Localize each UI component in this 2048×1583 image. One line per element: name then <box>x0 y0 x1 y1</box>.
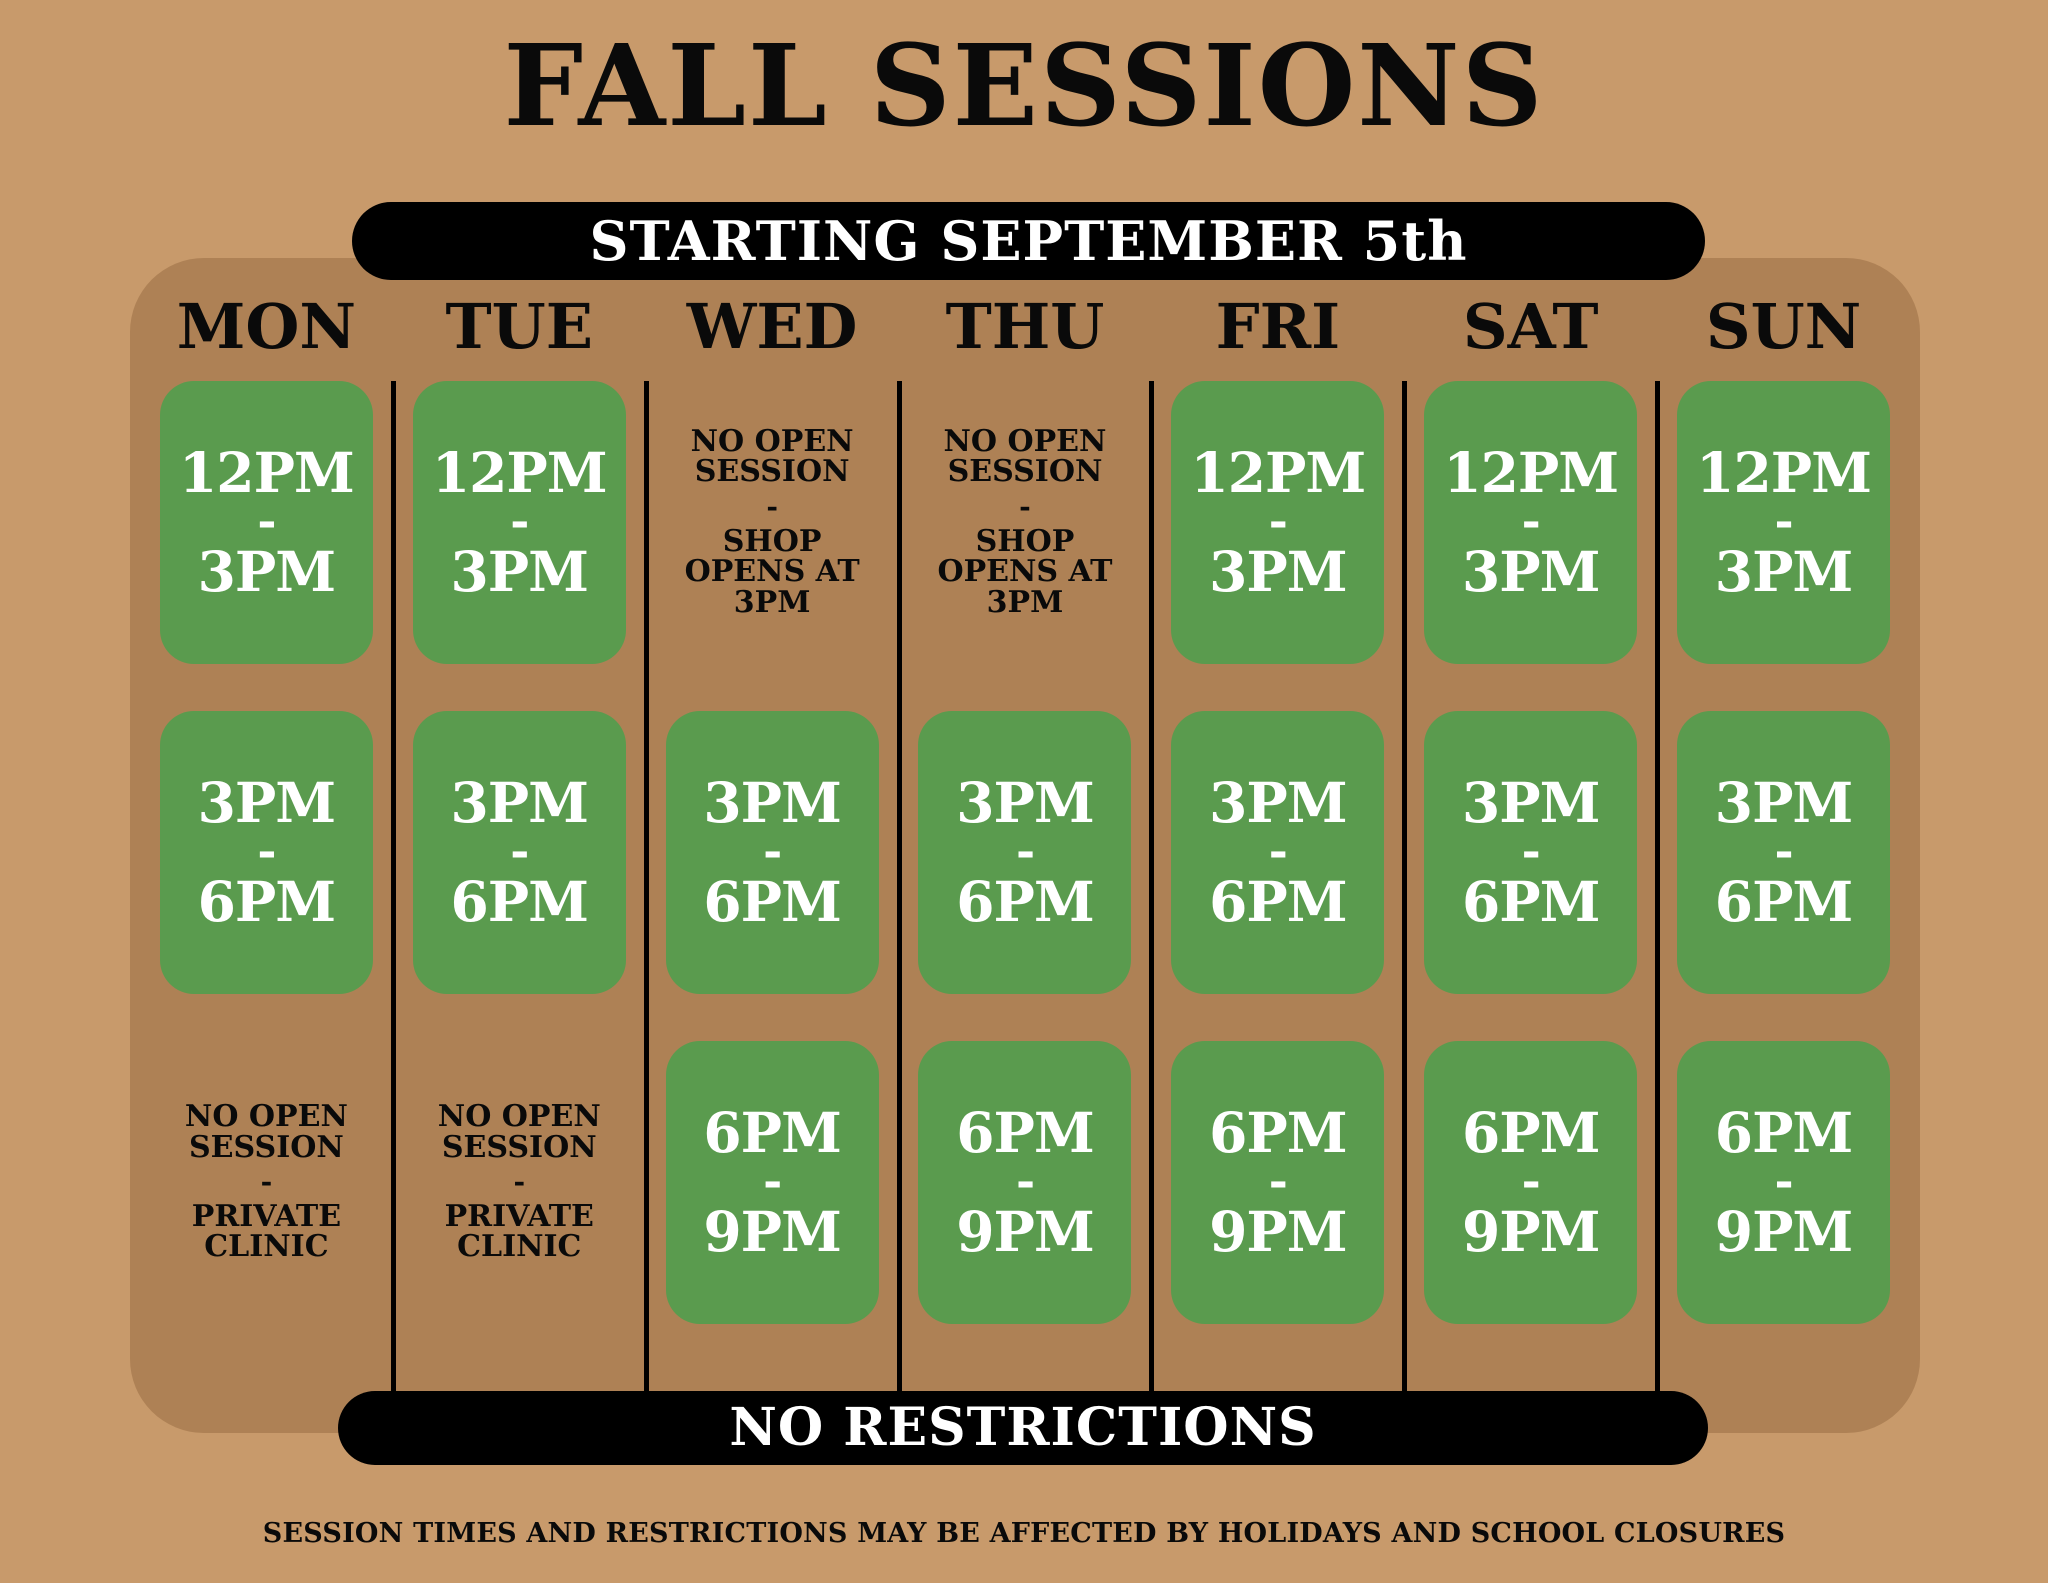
slot-separator: - <box>1522 831 1540 874</box>
session-slot-open[interactable]: 3PM-6PM <box>413 711 626 994</box>
slot-line: SESSION <box>695 457 850 488</box>
session-slot-open[interactable]: 3PM-6PM <box>1424 711 1637 994</box>
slot-line: 3PM <box>956 775 1094 831</box>
day-column-tue: TUE12PM-3PM3PM-6PMNO OPENSESSION-PRIVATE… <box>393 285 646 1405</box>
slot-line: NO OPEN <box>185 1102 348 1133</box>
slot-line: 6PM <box>1209 874 1347 930</box>
day-column-sun: SUN12PM-3PM3PM-6PM6PM-9PM <box>1657 285 1910 1405</box>
slot-line: 3PM <box>987 588 1064 619</box>
slot-line: CLINIC <box>457 1232 581 1263</box>
slot-separator: - <box>261 1163 273 1202</box>
slot-list: 12PM-3PM3PM-6PMNO OPENSESSION-PRIVATECLI… <box>405 381 634 1324</box>
slot-line: CLINIC <box>204 1232 328 1263</box>
day-header-sat: SAT <box>1463 285 1599 369</box>
slot-separator: - <box>1522 501 1540 544</box>
slot-separator: - <box>1522 1161 1540 1204</box>
slot-line: NO OPEN <box>691 427 854 458</box>
slot-line: 3PM <box>1209 775 1347 831</box>
session-slot-open[interactable]: 3PM-6PM <box>160 711 373 994</box>
slot-list: NO OPENSESSION-SHOPOPENS AT3PM3PM-6PM6PM… <box>911 381 1140 1324</box>
session-slot-open[interactable]: 12PM-3PM <box>1171 381 1384 664</box>
slot-separator: - <box>510 831 528 874</box>
slot-line: 6PM <box>956 874 1094 930</box>
slot-line: 6PM <box>1715 1105 1853 1161</box>
schedule-grid: MON12PM-3PM3PM-6PMNO OPENSESSION-PRIVATE… <box>140 285 1910 1405</box>
slot-separator: - <box>766 488 778 527</box>
start-date-banner: STARTING SEPTEMBER 5th <box>352 202 1705 280</box>
session-slot-closed[interactable]: NO OPENSESSION-SHOPOPENS AT3PM <box>666 381 879 664</box>
session-slot-closed[interactable]: NO OPENSESSION-SHOPOPENS AT3PM <box>918 381 1131 664</box>
slot-line: PRIVATE <box>192 1202 341 1233</box>
slot-line: 6PM <box>1462 1105 1600 1161</box>
slot-line: 9PM <box>703 1204 841 1260</box>
slot-list: 12PM-3PM3PM-6PMNO OPENSESSION-PRIVATECLI… <box>152 381 381 1324</box>
slot-line: 3PM <box>1462 544 1600 600</box>
day-column-mon: MON12PM-3PM3PM-6PMNO OPENSESSION-PRIVATE… <box>140 285 393 1405</box>
day-header-fri: FRI <box>1216 285 1341 369</box>
slot-line: SESSION <box>442 1133 597 1164</box>
session-slot-open[interactable]: 6PM-9PM <box>666 1041 879 1324</box>
slot-line: 12PM <box>432 445 607 501</box>
session-slot-open[interactable]: 3PM-6PM <box>1677 711 1890 994</box>
session-slot-open[interactable]: 6PM-9PM <box>1424 1041 1637 1324</box>
slot-line: SHOP <box>723 527 822 558</box>
slot-separator: - <box>1775 831 1793 874</box>
slot-list: 12PM-3PM3PM-6PM6PM-9PM <box>1416 381 1645 1324</box>
slot-separator: - <box>257 831 275 874</box>
session-slot-closed[interactable]: NO OPENSESSION-PRIVATECLINIC <box>160 1041 373 1324</box>
slot-separator: - <box>1775 1161 1793 1204</box>
slot-line: 6PM <box>451 874 589 930</box>
slot-line: PRIVATE <box>445 1202 594 1233</box>
session-slot-closed[interactable]: NO OPENSESSION-PRIVATECLINIC <box>413 1041 626 1324</box>
session-slot-open[interactable]: 12PM-3PM <box>160 381 373 664</box>
slot-separator: - <box>1016 831 1034 874</box>
slot-line: 3PM <box>1462 775 1600 831</box>
slot-line: 6PM <box>1209 1105 1347 1161</box>
slot-separator: - <box>1269 501 1287 544</box>
session-slot-open[interactable]: 6PM-9PM <box>918 1041 1131 1324</box>
slot-line: 3PM <box>1209 544 1347 600</box>
slot-line: 6PM <box>703 1105 841 1161</box>
start-date-banner-text: STARTING SEPTEMBER 5th <box>590 214 1468 268</box>
slot-line: 9PM <box>1462 1204 1600 1260</box>
slot-line: 3PM <box>198 544 336 600</box>
session-slot-open[interactable]: 6PM-9PM <box>1677 1041 1890 1324</box>
slot-separator: - <box>510 501 528 544</box>
restrictions-banner: NO RESTRICTIONS <box>338 1391 1708 1465</box>
session-slot-open[interactable]: 12PM-3PM <box>1677 381 1890 664</box>
slot-line: NO OPEN <box>438 1102 601 1133</box>
slot-line: 3PM <box>1715 544 1853 600</box>
slot-separator: - <box>1269 1161 1287 1204</box>
slot-line: SESSION <box>189 1133 344 1164</box>
day-header-thu: THU <box>946 285 1105 369</box>
slot-line: 9PM <box>1209 1204 1347 1260</box>
slot-line: 6PM <box>1715 874 1853 930</box>
session-slot-open[interactable]: 3PM-6PM <box>1171 711 1384 994</box>
slot-line: SESSION <box>948 457 1103 488</box>
page-title: FALL SESSIONS <box>0 28 2048 146</box>
day-column-thu: THUNO OPENSESSION-SHOPOPENS AT3PM3PM-6PM… <box>899 285 1152 1405</box>
slot-line: 12PM <box>1190 445 1365 501</box>
slot-line: 3PM <box>703 775 841 831</box>
session-slot-open[interactable]: 12PM-3PM <box>1424 381 1637 664</box>
slot-list: 12PM-3PM3PM-6PM6PM-9PM <box>1163 381 1392 1324</box>
slot-separator: - <box>1019 488 1031 527</box>
session-slot-open[interactable]: 3PM-6PM <box>918 711 1131 994</box>
session-slot-open[interactable]: 6PM-9PM <box>1171 1041 1384 1324</box>
slot-line: 9PM <box>956 1204 1094 1260</box>
slot-line: 3PM <box>451 544 589 600</box>
restrictions-banner-text: NO RESTRICTIONS <box>729 1402 1316 1454</box>
slot-separator: - <box>257 501 275 544</box>
slot-line: OPENS AT <box>937 557 1112 588</box>
slot-line: 9PM <box>1715 1204 1853 1260</box>
slot-line: 12PM <box>1443 445 1618 501</box>
slot-line: 12PM <box>179 445 354 501</box>
slot-separator: - <box>1269 831 1287 874</box>
slot-line: 6PM <box>956 1105 1094 1161</box>
slot-separator: - <box>1775 501 1793 544</box>
day-column-fri: FRI12PM-3PM3PM-6PM6PM-9PM <box>1151 285 1404 1405</box>
day-header-mon: MON <box>177 285 356 369</box>
session-slot-open[interactable]: 3PM-6PM <box>666 711 879 994</box>
day-header-wed: WED <box>687 285 858 369</box>
slot-line: 3PM <box>198 775 336 831</box>
slot-separator: - <box>763 831 781 874</box>
slot-separator: - <box>763 1161 781 1204</box>
day-column-sat: SAT12PM-3PM3PM-6PM6PM-9PM <box>1404 285 1657 1405</box>
slot-line: OPENS AT <box>685 557 860 588</box>
slot-separator: - <box>513 1163 525 1202</box>
day-header-sun: SUN <box>1706 285 1862 369</box>
day-header-tue: TUE <box>446 285 593 369</box>
slot-line: 3PM <box>734 588 811 619</box>
footnote: SESSION TIMES AND RESTRICTIONS MAY BE AF… <box>0 1518 2048 1549</box>
slot-list: 12PM-3PM3PM-6PM6PM-9PM <box>1669 381 1898 1324</box>
slot-line: 3PM <box>451 775 589 831</box>
slot-line: 6PM <box>198 874 336 930</box>
slot-line: 6PM <box>703 874 841 930</box>
slot-list: NO OPENSESSION-SHOPOPENS AT3PM3PM-6PM6PM… <box>658 381 887 1324</box>
session-slot-open[interactable]: 12PM-3PM <box>413 381 626 664</box>
day-column-wed: WEDNO OPENSESSION-SHOPOPENS AT3PM3PM-6PM… <box>646 285 899 1405</box>
slot-line: SHOP <box>976 527 1075 558</box>
slot-line: 3PM <box>1715 775 1853 831</box>
slot-line: 12PM <box>1696 445 1871 501</box>
slot-line: NO OPEN <box>943 427 1106 458</box>
slot-separator: - <box>1016 1161 1034 1204</box>
slot-line: 6PM <box>1462 874 1600 930</box>
